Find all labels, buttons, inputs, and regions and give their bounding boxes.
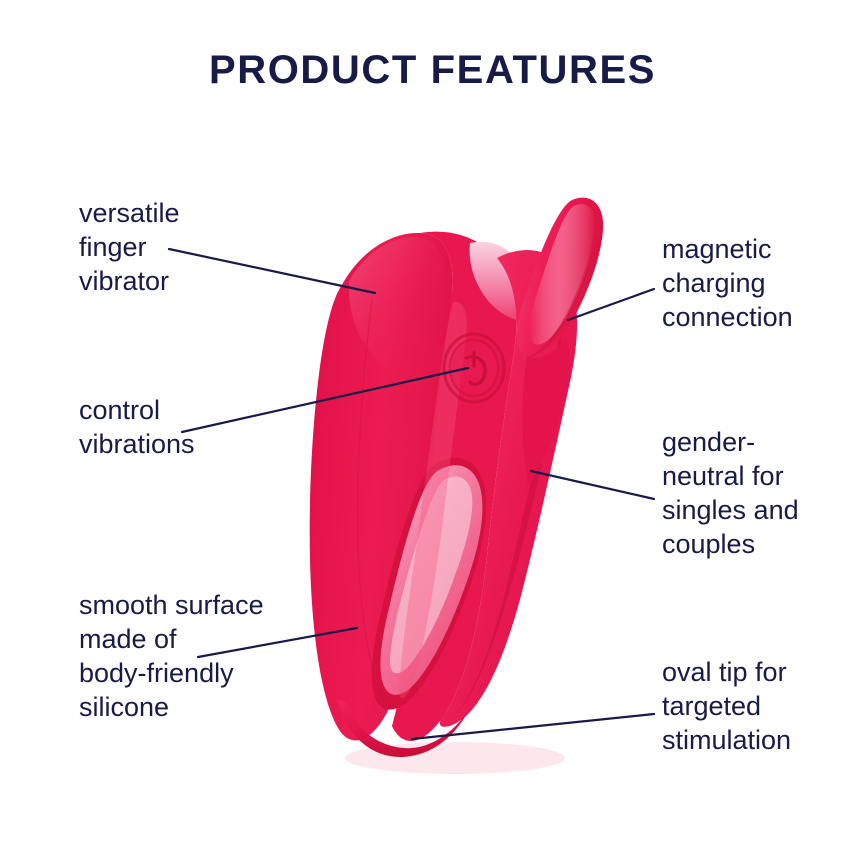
callout-versatile-finger-vibrator: versatile finger vibrator xyxy=(79,196,180,298)
callout-gender-neutral: gender- neutral for singles and couples xyxy=(662,425,799,561)
power-button-face xyxy=(452,342,496,394)
callout-smooth-surface-silicone: smooth surface made of body-friendly sil… xyxy=(79,588,264,724)
infographic-canvas: PRODUCT FEATURES xyxy=(0,0,865,865)
callout-magnetic-charging-connection: magnetic charging connection xyxy=(662,232,793,334)
callout-control-vibrations: control vibrations xyxy=(79,393,195,461)
leader-versatile xyxy=(169,249,375,293)
power-button-icon[interactable] xyxy=(444,334,504,402)
callout-oval-tip: oval tip for targeted stimulation xyxy=(662,655,791,757)
leader-gender-neutral xyxy=(531,471,654,499)
product-body xyxy=(310,198,603,774)
